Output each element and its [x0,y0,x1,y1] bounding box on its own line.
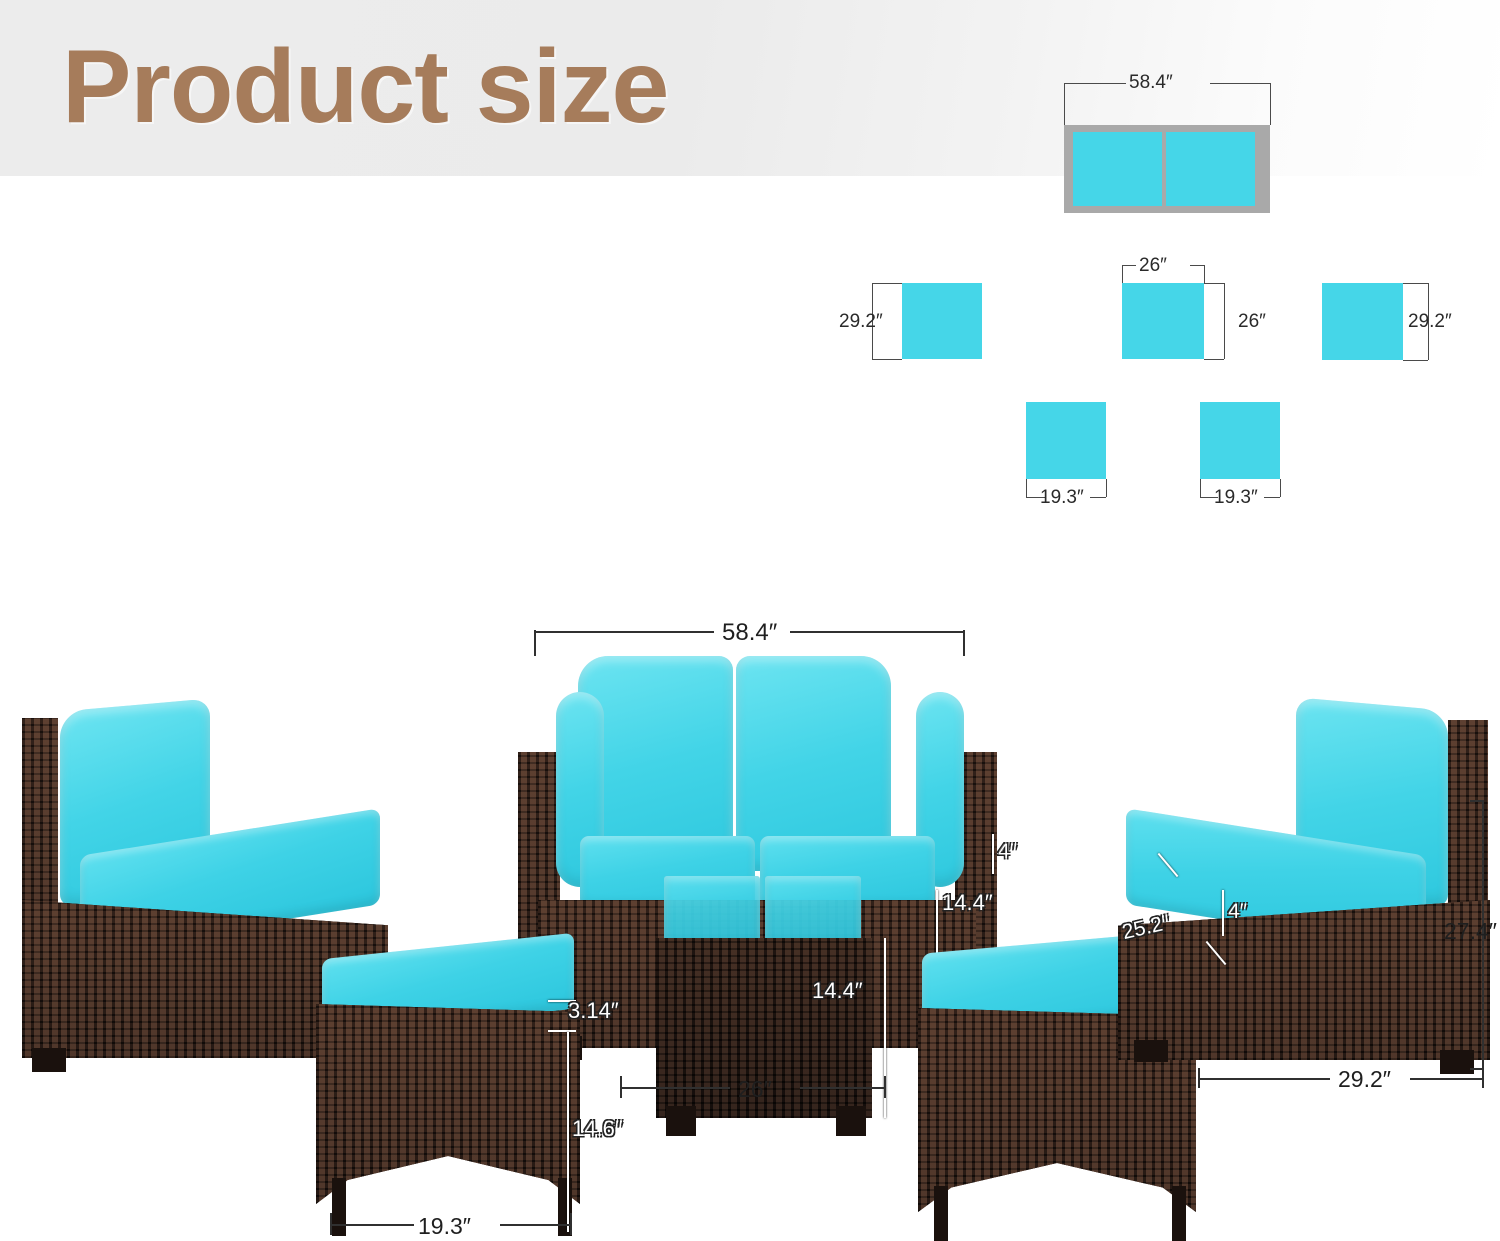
loveseat-cushion-thickness-label: 4″ [998,840,1017,864]
dim-tick-left [1200,479,1201,497]
chair-total-height-label: 27.4″ [1444,918,1497,945]
dim-line [1090,497,1106,498]
back-cushion-left-label: 29.2″ [839,311,883,333]
cushion-square [1122,283,1204,359]
table-height-label: 14.4″ [812,978,863,1004]
ottoman-left-leg-left [332,1178,346,1236]
table-width-line-a [620,1087,730,1089]
chair-right-leg-front [1440,1050,1474,1074]
dim-tick-top [872,283,902,284]
dim-tick-right [1280,479,1281,497]
table-leg-left [666,1106,696,1136]
table-width-label: 26″ [738,1076,772,1103]
dim-tick-right [1106,479,1107,497]
dim-tick-left [1122,265,1123,283]
chair-width-label: 29.2″ [1338,1066,1391,1093]
ottoman-width-line-a [330,1224,414,1226]
dim-tick-v [1224,283,1225,359]
dim-tick-right [1204,265,1205,283]
loveseat-dim-tick-right [963,630,965,656]
chair-width-line-a [1198,1078,1330,1080]
chair-width-tick-right [1482,1068,1484,1088]
ottoman-left-frame [316,1004,580,1204]
chair-right-frame [1118,900,1490,1060]
table-width-tick-right [884,1076,886,1098]
seat-cushion-right-label: 26″ [1238,311,1266,333]
cushion-square [1322,283,1403,360]
loveseat-width-label: 58.4″ [1129,72,1173,94]
dim-tick-v-bottom [1204,359,1224,360]
ottoman-frame-height-tick [567,1032,569,1232]
furniture-set-photo: 58.4″ 4″ 14.4″ [0,600,1500,1241]
dim-tick-top [1403,283,1428,284]
dim-line [1264,497,1280,498]
cushion-size-schematic: 58.4″ 29.2″ 26″ 26″ [0,0,1500,560]
cushion-square [1026,402,1106,479]
cushion-square [1200,402,1280,479]
ottoman-cushion-thickness-label: 3.14″ [568,998,619,1024]
ottoman-width-line-b [500,1224,570,1226]
dim-line-top-b [1190,265,1204,266]
ottoman-width-tick-right [570,1213,572,1235]
table-leg-right [836,1106,866,1136]
dim-tick-left [1064,83,1065,125]
loveseat-width-label: 58.4″ [722,619,777,647]
dim-tick-right [1270,83,1271,125]
cushion-square [902,283,982,359]
dim-tick-v-top [1204,283,1224,284]
ottoman-cushion-left-label: 19.3″ [1040,487,1084,509]
chair-total-height-cap-top [1470,800,1484,802]
chair-thickness-tick [1222,890,1224,936]
loveseat-dim-tick-left [534,630,536,656]
dim-tick-bottom [1403,360,1428,361]
loveseat-dim-line-a [534,631,714,633]
loveseat-thickness-tick [992,834,994,874]
ottoman-right-leg-left [934,1186,948,1241]
dim-tick-bottom [872,359,902,360]
dim-tick-left [1026,479,1027,497]
ottoman-thickness-tick-bottom [548,1030,576,1032]
chair-right-leg-back [1134,1040,1168,1062]
table-width-line-b [800,1087,884,1089]
loveseat-cushion-right [1166,132,1255,206]
dim-line [1064,83,1126,84]
ottoman-cushion-right-label: 19.3″ [1214,487,1258,509]
dim-line-top-a [1122,265,1136,266]
back-cushion-right-label: 29.2″ [1408,311,1452,333]
ottoman-frame-height-label: 14.6″ [572,1116,623,1142]
loveseat-seat-height-label: 14.4″ [942,890,993,916]
dim-line [1210,83,1270,84]
chair-cushion-thickness-label: 4″ [1228,900,1247,924]
ottoman-right-leg-right [1172,1186,1186,1241]
product-size-page: Product size 58.4″ 29.2″ [0,0,1500,1241]
chair-width-line-b [1410,1078,1482,1080]
seat-cushion-top-label: 26″ [1139,255,1167,277]
chair-left-leg-front [32,1048,66,1072]
ottoman-width-label: 19.3″ [418,1213,471,1240]
loveseat-cushion-left [1073,132,1162,206]
loveseat-dim-line-b [790,631,963,633]
